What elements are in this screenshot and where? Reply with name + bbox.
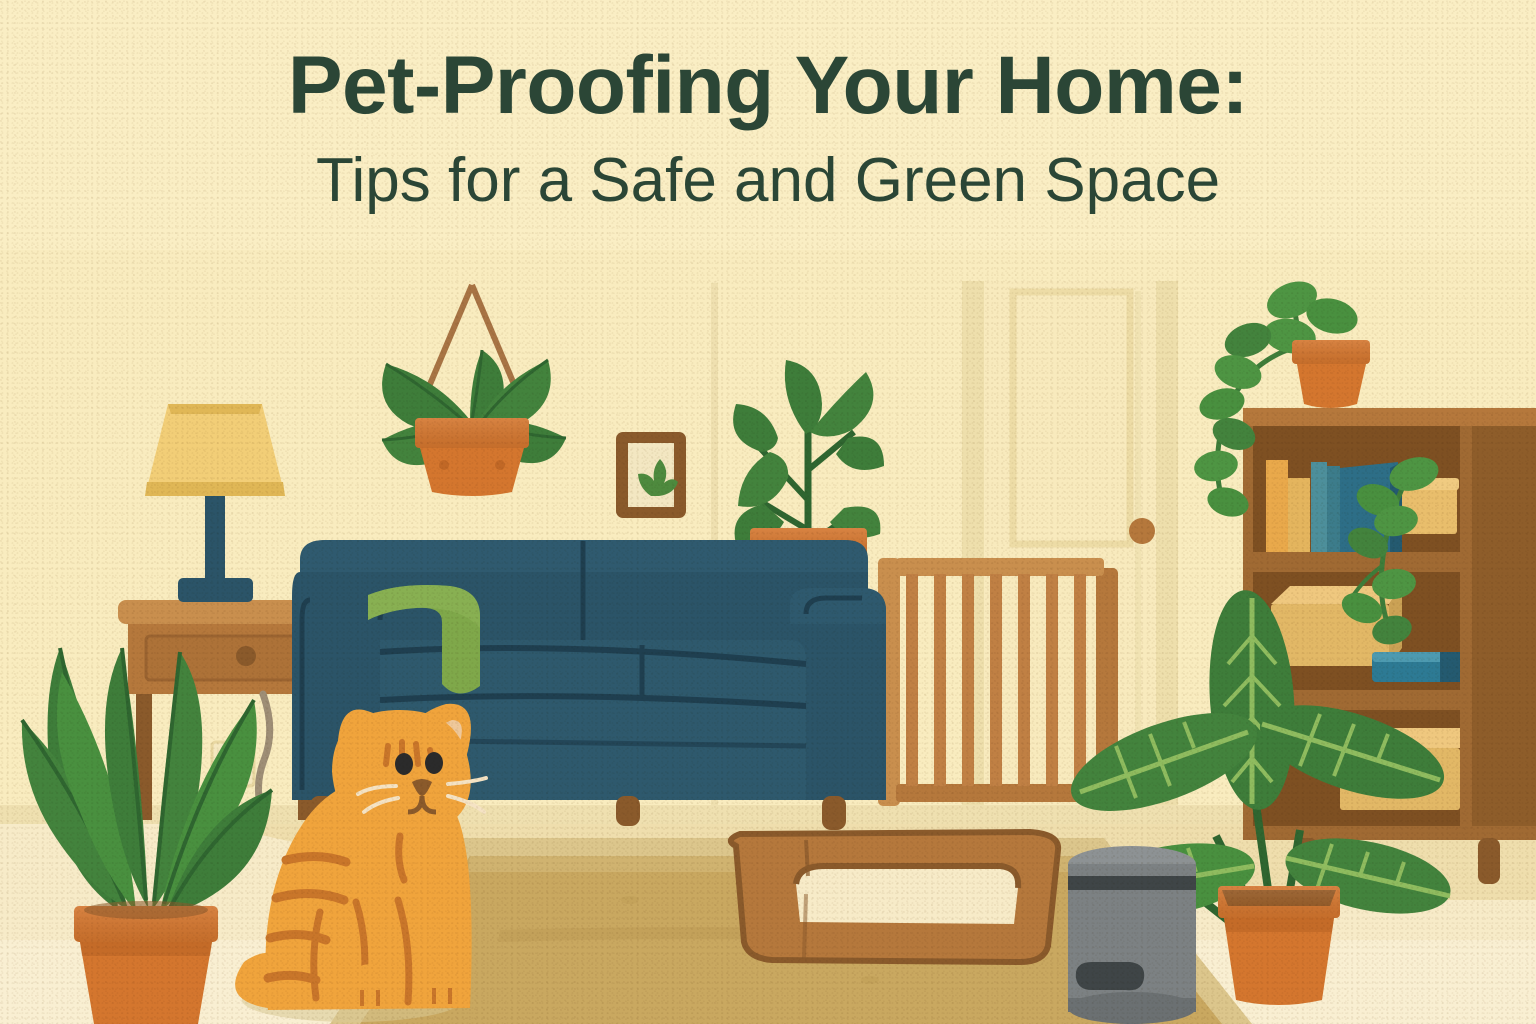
cat-eye-right [425, 752, 443, 774]
illustration-canvas: Pet-Proofing Your Home: Tips for a Safe … [0, 0, 1536, 1024]
trash-can-pedal [1076, 962, 1144, 990]
bookshelf [1243, 408, 1536, 884]
framed-leaf-art [616, 432, 686, 518]
bookshelf-top-pot [1292, 340, 1370, 408]
cat-eye-left [395, 753, 413, 775]
trash-can [1068, 846, 1196, 1024]
snake-plant-pot [74, 901, 218, 1024]
hanging-plant-pot [415, 418, 529, 496]
calathea-pot [1218, 886, 1340, 1005]
door-knob [1129, 518, 1155, 544]
pet-bed [731, 832, 1058, 962]
living-room-illustration [0, 0, 1536, 1024]
